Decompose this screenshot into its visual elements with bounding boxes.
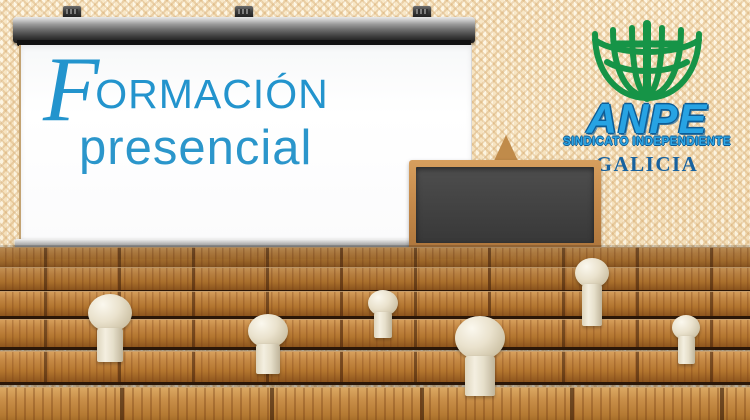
- seat-row: [0, 387, 750, 420]
- seat-finial: [575, 258, 609, 326]
- formacion-presencial-poster: Formación presencial ANPE SINDICATO INDE…: [0, 0, 750, 420]
- seat-finial: [248, 314, 288, 374]
- seat-finial: [455, 316, 505, 396]
- green-globe-icon: [585, 18, 709, 104]
- screen-headline: Formación presencial: [43, 61, 453, 173]
- chalkboard-surface: [416, 167, 594, 243]
- seat-row: [0, 247, 750, 267]
- seat-finial: [88, 294, 132, 362]
- chalkboard: [409, 160, 601, 250]
- anpe-wordmark: ANPE: [556, 98, 738, 140]
- seat-finial: [368, 290, 398, 338]
- seat-row: [0, 267, 750, 289]
- headline-line-2: presencial: [79, 124, 453, 173]
- headline-line-1: Formación: [43, 61, 453, 118]
- auditorium-seating: [0, 245, 750, 420]
- seat-finial: [672, 315, 700, 364]
- easel-top-support: [493, 135, 519, 163]
- headline-line-1-rest: ormación: [95, 56, 329, 121]
